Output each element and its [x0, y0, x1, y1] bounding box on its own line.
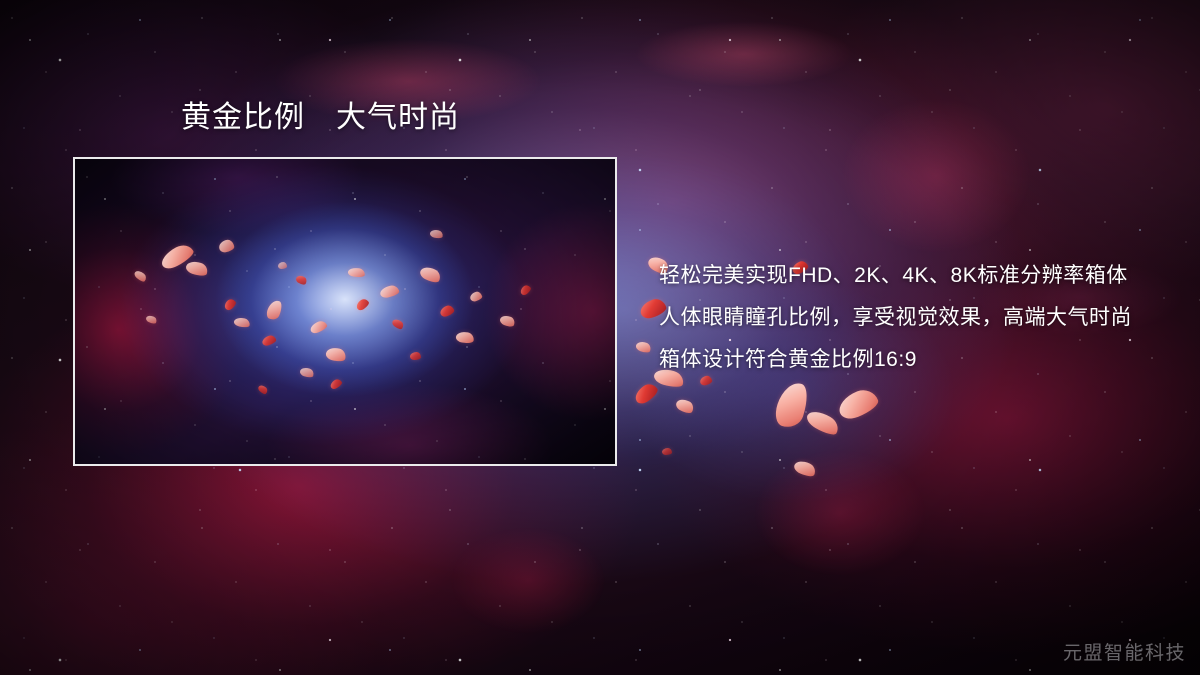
- flower-petal: [662, 448, 672, 455]
- framed-nebula-image: [73, 157, 617, 466]
- presentation-slide: 黄金比例 大气时尚 轻松完美实现FHD、2K、4K、8K标准分辨率箱体 人体眼睛…: [0, 0, 1200, 675]
- brand-watermark: 元盟智能科技: [1063, 638, 1186, 665]
- description-line: 轻松完美实现FHD、2K、4K、8K标准分辨率箱体: [659, 255, 1159, 297]
- description-line: 箱体设计符合黄金比例16:9: [659, 339, 1159, 381]
- description-line: 人体眼睛瞳孔比例，享受视觉效果，高端大气时尚: [659, 297, 1159, 339]
- flower-petal: [772, 379, 813, 431]
- inner-vignette: [75, 159, 615, 464]
- flower-petal: [635, 340, 653, 355]
- flower-petal: [804, 407, 842, 439]
- flower-petal: [632, 381, 660, 407]
- inner-starfield-small: [75, 159, 615, 464]
- inner-nebula: [75, 159, 615, 464]
- flower-petal: [674, 396, 696, 415]
- page-title: 黄金比例 大气时尚: [181, 101, 460, 134]
- flower-petal: [835, 385, 881, 422]
- flower-petal: [792, 458, 817, 479]
- feature-description: 轻松完美实现FHD、2K、4K、8K标准分辨率箱体 人体眼睛瞳孔比例，享受视觉效…: [659, 255, 1159, 381]
- inner-starfield-medium: [75, 159, 615, 464]
